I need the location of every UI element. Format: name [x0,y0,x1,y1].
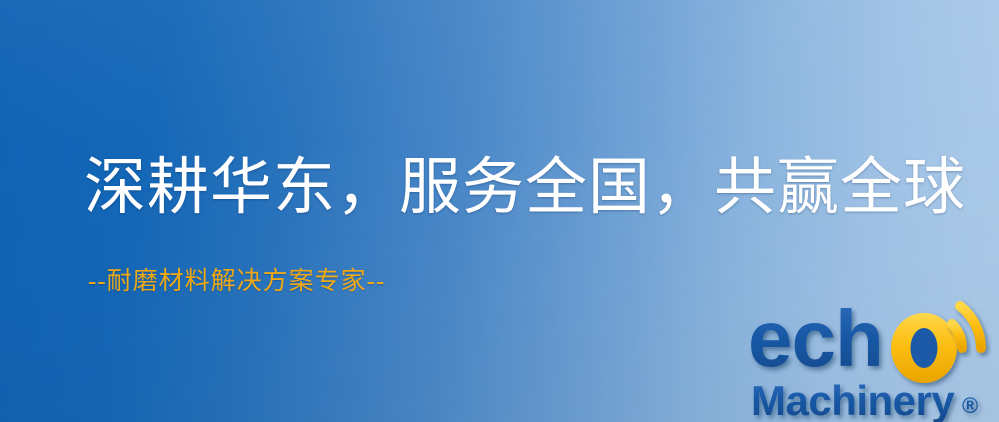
logo-registered-trademark: ® [962,393,978,418]
banner-headline: 深耕华东，服务全国，共赢全球 [84,150,966,226]
logo-word-machinery: Machinery [751,377,955,422]
logo-echo-wave-arcs-icon [952,306,981,348]
logo-echo-text: ech [748,296,883,383]
logo-machinery-text: Machinery ® [751,377,978,422]
logo-letters-ech: ech [748,296,883,383]
hero-banner: 深耕华东，服务全国，共赢全球 --耐磨材料解决方案专家-- [0,0,999,422]
banner-subheadline: --耐磨材料解决方案专家-- [88,266,385,298]
echo-machinery-logo[interactable]: ech Machinery ® [748,296,999,422]
